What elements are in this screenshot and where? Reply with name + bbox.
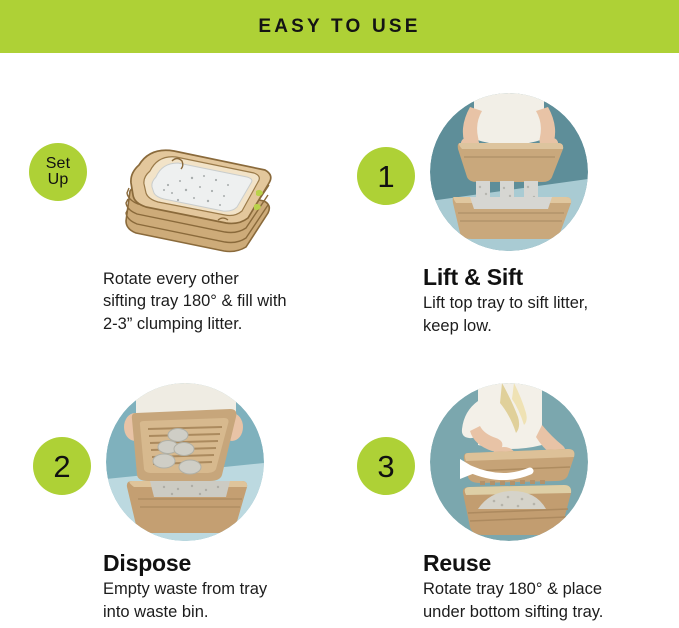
step-3-heading: Reuse: [423, 550, 673, 576]
set-up-badge: Set Up: [29, 143, 87, 201]
step-1-number: 1: [377, 161, 394, 192]
step-3-badge: 3: [357, 437, 415, 495]
set-up-text-block: Rotate every other sifting tray 180° & f…: [103, 268, 343, 335]
set-up-badge-label: Set Up: [46, 156, 71, 188]
set-up-body: Rotate every other sifting tray 180° & f…: [103, 268, 343, 335]
step-2-badge: 2: [33, 437, 91, 495]
step-1-heading: Lift & Sift: [423, 264, 668, 290]
step-2-number: 2: [53, 451, 70, 482]
step-1-text-block: Lift & Sift Lift top tray to sift litter…: [423, 264, 668, 337]
step-1-body: Lift top tray to sift litter, keep low.: [423, 292, 668, 337]
stacked-sifting-trays-illustration: [106, 125, 276, 255]
step-3-body: Rotate tray 180° & place under bottom si…: [423, 578, 673, 623]
step-3-text-block: Reuse Rotate tray 180° & place under bot…: [423, 550, 673, 623]
step-2-text-block: Dispose Empty waste from tray into waste…: [103, 550, 348, 623]
step-3-number: 3: [377, 451, 394, 482]
set-up-badge-line1: Set: [46, 155, 71, 172]
steps-grid: Set Up: [0, 53, 679, 628]
step-2-body: Empty waste from tray into waste bin.: [103, 578, 348, 623]
set-up-badge-line2: Up: [48, 171, 69, 188]
dispose-photo: [106, 383, 264, 541]
lift-and-sift-photo: [430, 93, 588, 251]
step-2-heading: Dispose: [103, 550, 348, 576]
step-1-badge: 1: [357, 147, 415, 205]
page-title: EASY TO USE: [258, 16, 420, 38]
reuse-photo: [430, 383, 588, 541]
page-header-banner: EASY TO USE: [0, 0, 679, 53]
